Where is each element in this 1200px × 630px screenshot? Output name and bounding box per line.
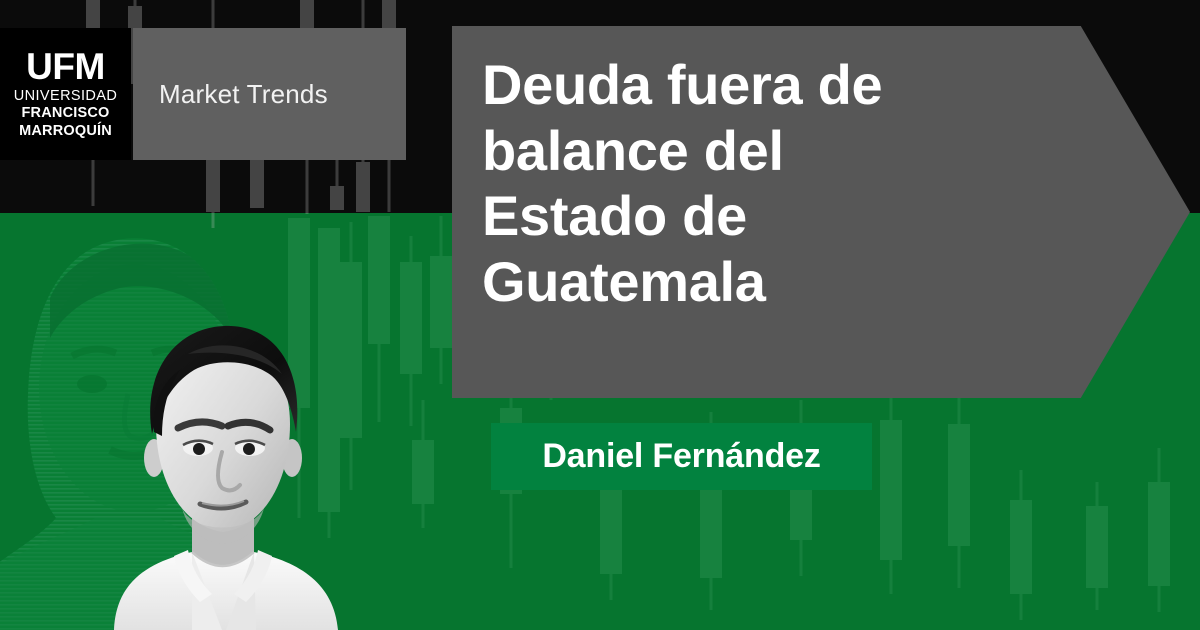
logo-line-francisco: FRANCISCO xyxy=(22,105,110,122)
logo-mark: UFM xyxy=(26,48,105,85)
logo-line-marroquin: MARROQUÍN xyxy=(19,123,112,140)
category-label: Market Trends xyxy=(133,79,328,110)
author-banner: Daniel Fernández xyxy=(491,423,872,490)
ufm-logo: UFM UNIVERSIDAD FRANCISCO MARROQUÍN xyxy=(0,28,131,160)
author-name: Daniel Fernández xyxy=(542,437,820,476)
logo-line-universidad: UNIVERSIDAD xyxy=(14,88,118,105)
social-card: UFM UNIVERSIDAD FRANCISCO MARROQUÍN Mark… xyxy=(0,0,1200,630)
page-title: Deuda fuera de balance del Estado de Gua… xyxy=(482,52,952,314)
title-panel: Deuda fuera de balance del Estado de Gua… xyxy=(452,26,1190,398)
category-badge: Market Trends xyxy=(133,28,406,160)
